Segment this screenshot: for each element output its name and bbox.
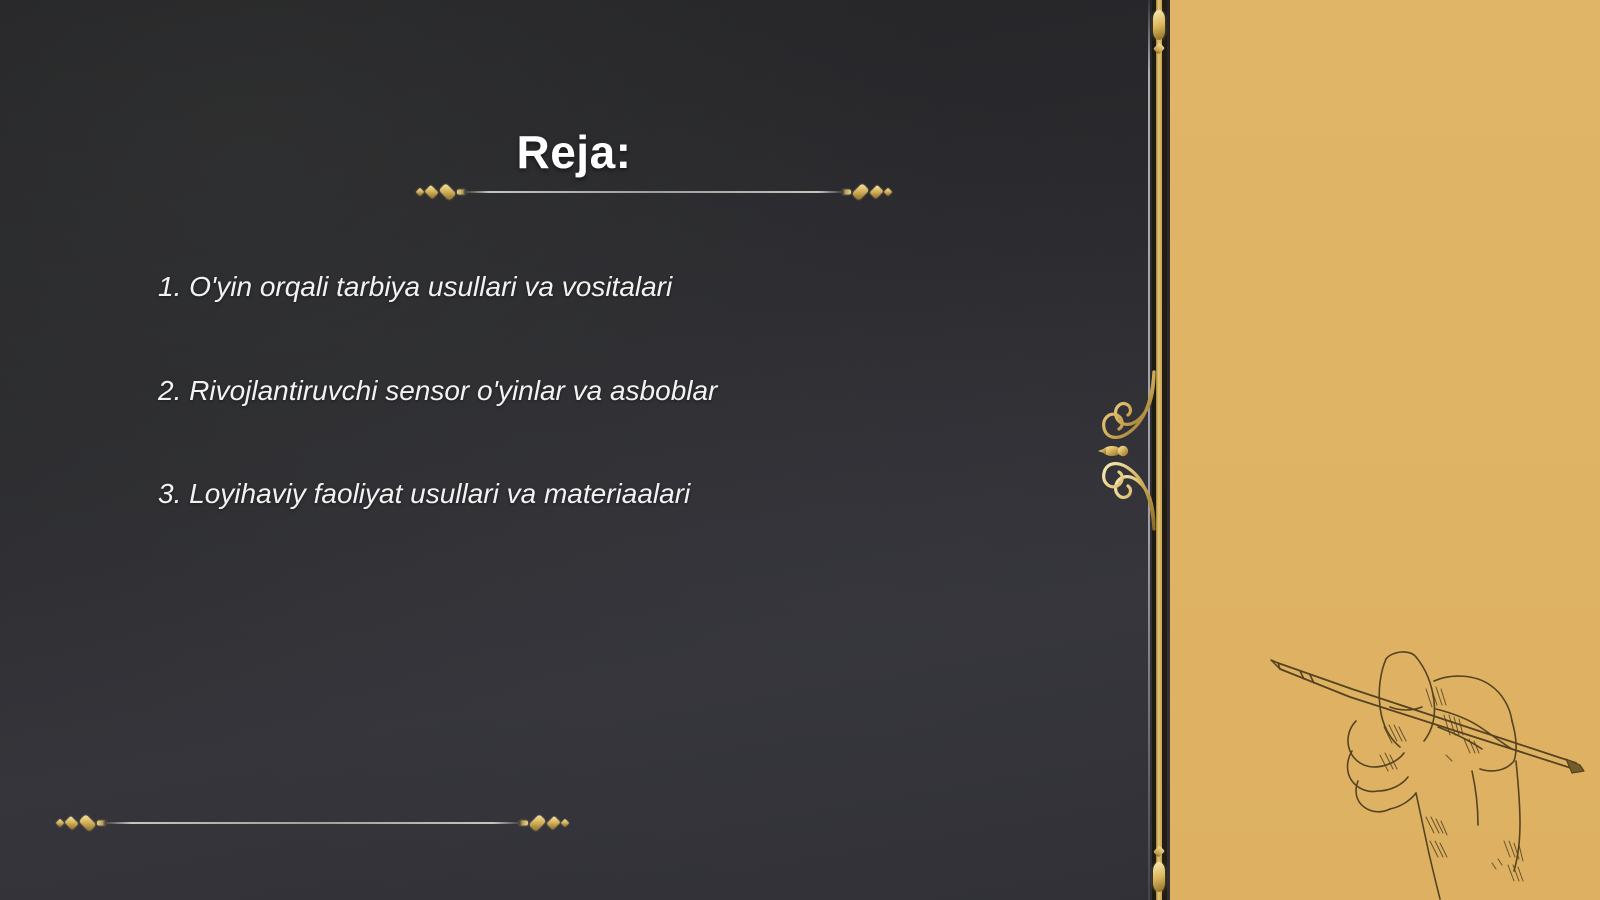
page-title: Reja: bbox=[0, 126, 1148, 179]
filigree-scroll-icon bbox=[1096, 368, 1168, 533]
title-block: Reja: bbox=[0, 126, 1148, 179]
title-divider-rule bbox=[415, 185, 893, 199]
rule-ornament-left-icon bbox=[415, 186, 471, 199]
rule-line bbox=[467, 191, 841, 193]
bottom-rule-line bbox=[107, 822, 518, 824]
divider-top-bead-icon bbox=[1153, 10, 1165, 40]
bottom-rule-ornament-left-icon bbox=[55, 817, 111, 830]
list-item: 1. O'yin orqali tarbiya usullari va vosi… bbox=[158, 270, 1058, 304]
rule-ornament-right-icon bbox=[837, 186, 893, 199]
agenda-list: 1. O'yin orqali tarbiya usullari va vosi… bbox=[158, 270, 1058, 511]
bottom-rule-ornament-right-icon bbox=[514, 817, 570, 830]
bottom-divider-rule bbox=[55, 816, 570, 830]
list-item: 2. Rivojlantiruvchi sensor o'yinlar va a… bbox=[158, 374, 1058, 408]
gold-side-panel bbox=[1170, 0, 1600, 900]
presentation-slide: Reja: 1. O'yin orqali tarbiya usullari v… bbox=[0, 0, 1600, 900]
hand-holding-pen-icon bbox=[1240, 615, 1600, 900]
divider-bottom-bead-icon bbox=[1153, 862, 1165, 892]
list-item: 3. Loyihaviy faoliyat usullari va materi… bbox=[158, 477, 1058, 511]
